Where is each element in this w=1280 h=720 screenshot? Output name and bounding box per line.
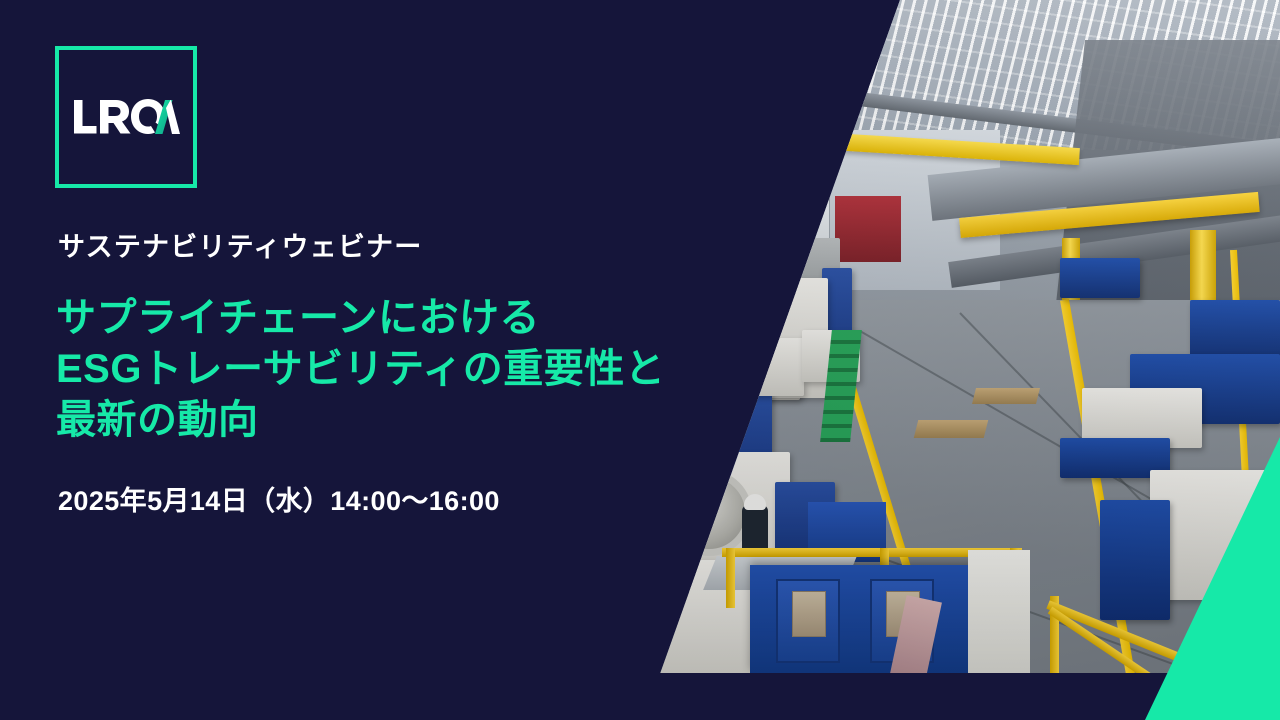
machine-unit (1060, 258, 1140, 298)
cabin-door (776, 579, 840, 663)
webinar-banner: サステナビリティウェビナー サプライチェーンにおける ESGトレーサビリティの重… (0, 0, 1280, 720)
headline-line-3: 最新の動向 (56, 395, 665, 446)
red-container (835, 196, 901, 262)
machine-unit (1190, 300, 1280, 360)
page-title: サプライチェーンにおける ESGトレーサビリティの重要性と 最新の動向 (56, 293, 665, 446)
headline-line-2: ESGトレーサビリティの重要性と (56, 344, 665, 395)
machine-unit (1100, 500, 1170, 620)
event-datetime: 2025年5月14日（水）14:00〜16:00 (58, 479, 500, 518)
blue-cabin (750, 565, 980, 673)
machine-unit (734, 338, 804, 396)
lrqa-logo (55, 46, 197, 188)
circular-machine-part (666, 470, 752, 556)
white-panel (968, 550, 1030, 674)
safety-helmet (744, 494, 766, 510)
bottom-navy-strip (0, 673, 1280, 720)
wooden-pallet (914, 420, 988, 438)
lrqa-wordmark-icon (72, 93, 180, 141)
cabin-window (792, 591, 826, 637)
headline-line-1: サプライチェーンにおける (56, 293, 665, 344)
railing-post (726, 548, 735, 608)
eyebrow-label: サステナビリティウェビナー (58, 225, 422, 264)
wooden-pallet (972, 388, 1040, 404)
